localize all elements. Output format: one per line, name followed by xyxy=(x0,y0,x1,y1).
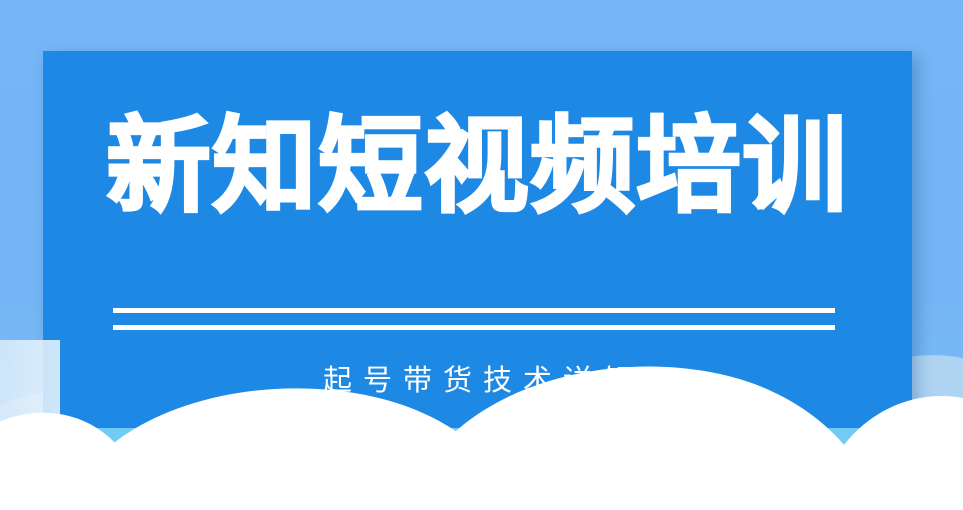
divider xyxy=(113,308,835,330)
page-subtitle: 起号带货技术详解 xyxy=(312,363,643,397)
title-block: 新知短视频培训 xyxy=(43,114,912,218)
poster-canvas: 新知短视频培训 起号带货技术详解 xyxy=(0,0,963,510)
divider-rule-top xyxy=(113,308,835,313)
page-title: 新知短视频培训 xyxy=(106,114,848,218)
title-card: 新知短视频培训 起号带货技术详解 xyxy=(43,51,912,466)
subtitle-block: 起号带货技术详解 xyxy=(43,363,912,397)
divider-rule-bottom xyxy=(113,325,835,330)
